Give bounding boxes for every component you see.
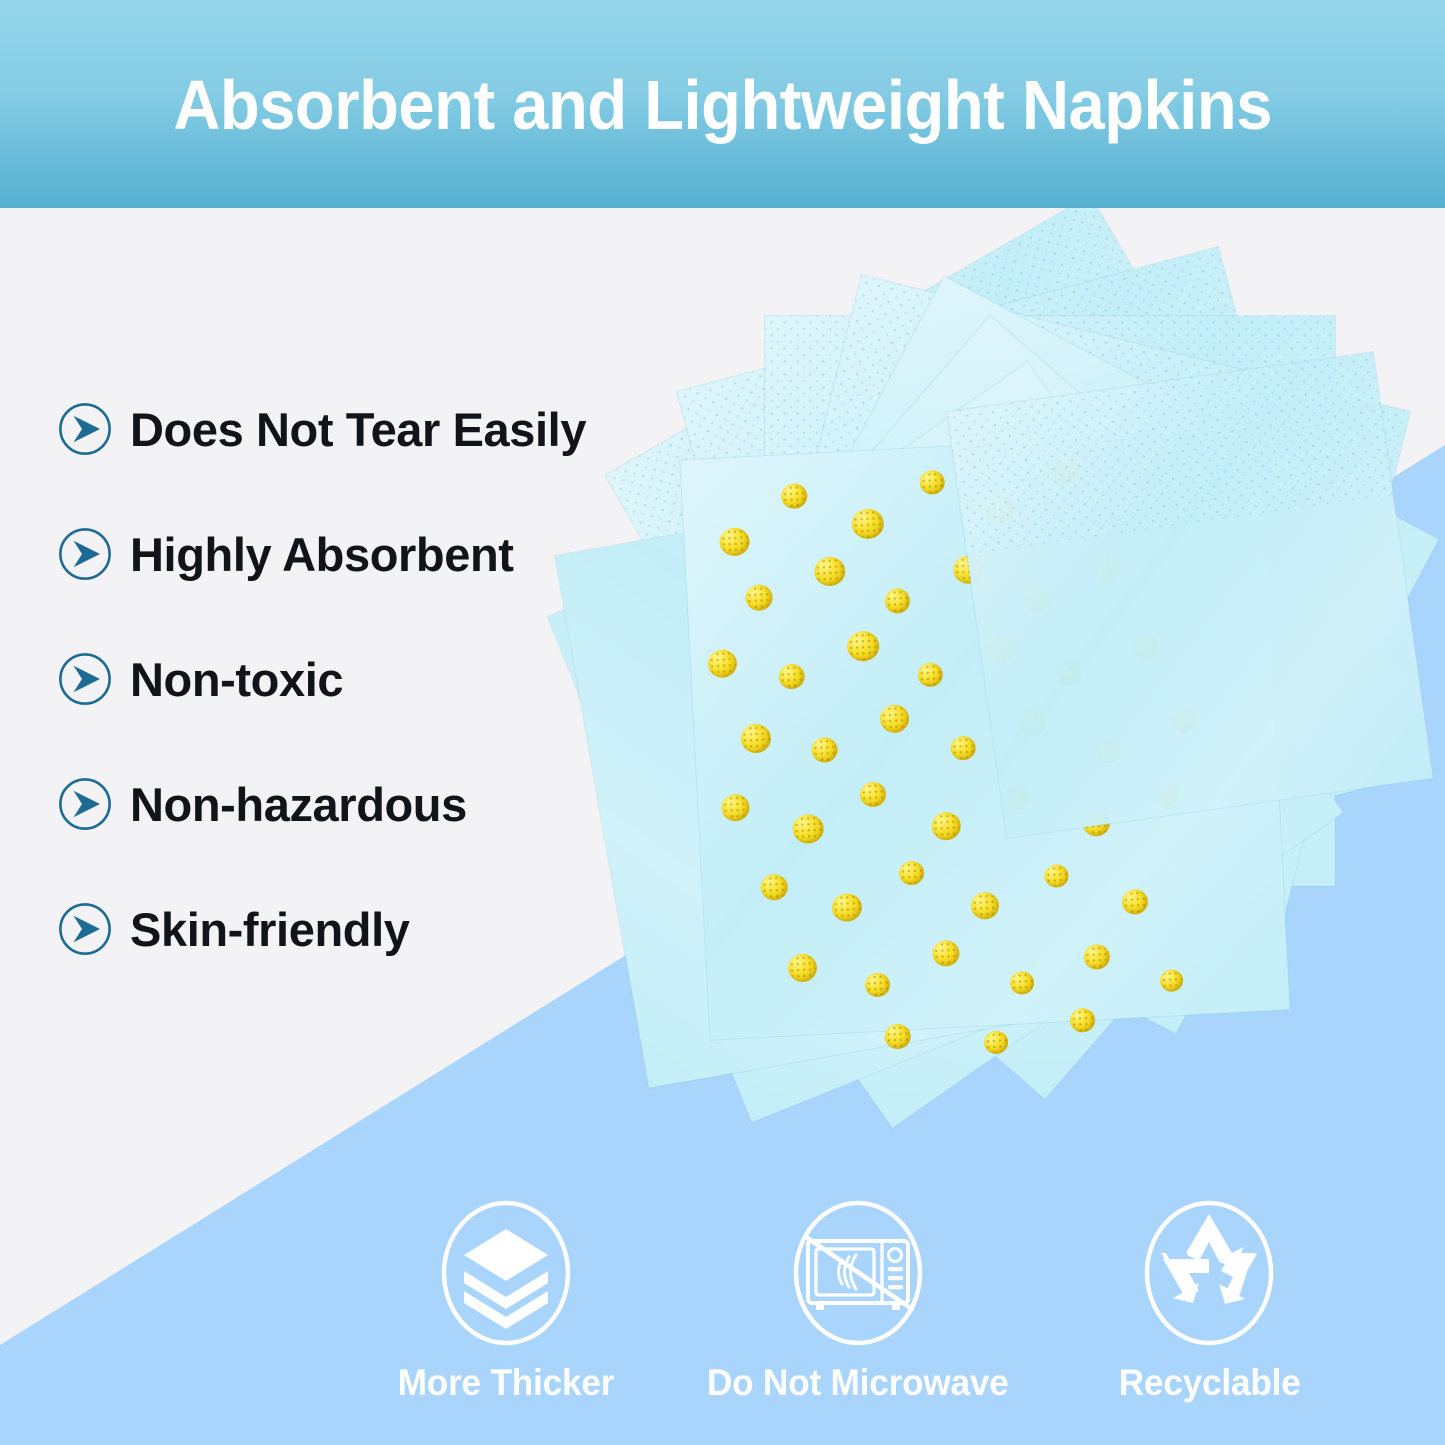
feature-item-highly-absorbent: Highly Absorbent [58,523,698,585]
no-microwave-icon [783,1195,933,1350]
feature-list: Does Not Tear Easily Highly Absorbent No… [58,398,698,960]
bottom-row-spacer [0,1195,330,1445]
chevron-circle-icon [58,527,112,581]
infographic-canvas: Absorbent and Lightweight Napkins [0,0,1445,1445]
bottom-feature-more-thicker: More Thicker [330,1195,682,1445]
feature-label: Does Not Tear Easily [130,406,586,453]
feature-label: Skin-friendly [130,906,409,953]
feature-label: Non-hazardous [130,781,467,828]
bottom-feature-recyclable: Recyclable [1033,1195,1385,1445]
bottom-row-spacer-right [1385,1195,1445,1445]
feature-item-skin-friendly: Skin-friendly [58,898,698,960]
layers-stack-icon [431,1195,581,1350]
bottom-feature-label: Recyclable [1118,1364,1300,1401]
feature-item-non-hazardous: Non-hazardous [58,773,698,835]
chevron-circle-icon [58,902,112,956]
feature-item-non-toxic: Non-toxic [58,648,698,710]
page-title: Absorbent and Lightweight Napkins [173,70,1272,140]
chevron-circle-icon [58,402,112,456]
feature-item-does-not-tear-easily: Does Not Tear Easily [58,398,698,460]
bottom-feature-row: More Thicker [0,1195,1445,1445]
header-banner: Absorbent and Lightweight Napkins [0,0,1445,208]
product-image-napkin-stack [590,280,1420,1180]
recycle-icon [1134,1195,1284,1350]
chevron-circle-icon [58,777,112,831]
feature-label: Non-toxic [130,656,343,703]
napkin-sheet-top-right [947,352,1433,838]
bottom-feature-label: Do Not Microwave [707,1364,1009,1401]
chevron-circle-icon [58,652,112,706]
feature-label: Highly Absorbent [130,531,514,578]
bottom-feature-do-not-microwave: Do Not Microwave [682,1195,1034,1445]
bottom-feature-label: More Thicker [398,1364,615,1401]
